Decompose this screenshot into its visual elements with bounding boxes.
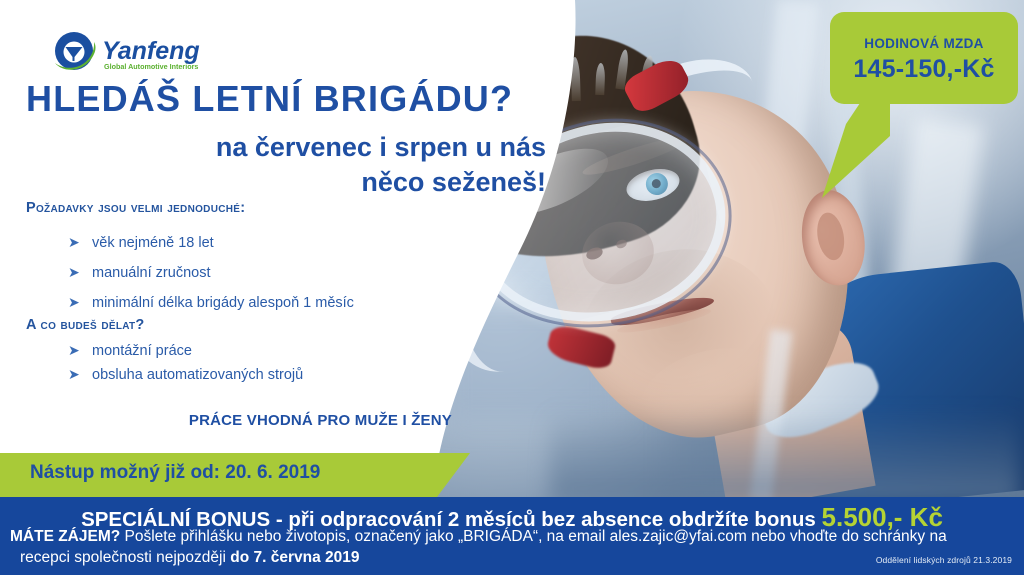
subheadline-line-2: něco seženeš! — [26, 165, 546, 200]
subheadline: na červenec i srpen u nás něco seženeš! — [26, 130, 546, 199]
arrow-bullet-icon: ➤ — [68, 294, 80, 312]
list-item-label: manuální zručnost — [92, 265, 210, 281]
deadline-prefix: recepci společnosti nejpozději — [20, 549, 226, 566]
footer-bar: SPECIÁLNÍ BONUS - při odpracování 2 měsí… — [0, 497, 1024, 575]
arrow-bullet-icon: ➤ — [68, 234, 80, 252]
arrow-bullet-icon: ➤ — [68, 342, 80, 360]
hourly-wage-value: 145-150,-Kč — [830, 55, 1018, 84]
yanfeng-logo: Yanfeng Global Automotive Interiors — [52, 30, 232, 76]
start-date-band: Nástup možný již od: 20. 6. 2019 — [0, 453, 470, 497]
subheadline-line-1: na červenec i srpen u nás — [26, 130, 546, 165]
hourly-wage-label: HODINOVÁ MZDA — [830, 36, 1018, 51]
suitability-note: PRÁCE VHODNÁ PRO MUŽE I ŽENY — [0, 412, 452, 429]
list-item: ➤ obsluha automatizovaných strojů — [68, 366, 303, 384]
contact-instructions: Pošlete přihlášku nebo životopis, označe… — [125, 528, 947, 545]
start-date-text: Nástup možný již od: 20. 6. 2019 — [30, 462, 320, 484]
arrow-bullet-icon: ➤ — [68, 366, 80, 384]
work-title: A co budeš dělat? — [26, 317, 145, 333]
foreground-blur — [550, 410, 1020, 497]
hr-credit: Oddělení lidských zdrojů 21.3.2019 — [876, 555, 1012, 565]
contact-question: MÁTE ZÁJEM? — [10, 528, 120, 545]
list-item: ➤ montážní práce — [68, 342, 303, 360]
recruitment-poster: Yanfeng Global Automotive Interiors HLED… — [0, 0, 1024, 575]
list-item: ➤ manuální zručnost — [68, 264, 354, 282]
list-item-label: montážní práce — [92, 343, 192, 359]
deadline-date: do 7. června 2019 — [230, 549, 359, 566]
arrow-bullet-icon: ➤ — [68, 264, 80, 282]
deadline-line: recepci společnosti nejpozději do 7. čer… — [20, 549, 360, 567]
hourly-wage-badge: HODINOVÁ MZDA 145-150,-Kč — [830, 12, 1018, 104]
requirements-list: ➤ věk nejméně 18 let ➤ manuální zručnost… — [68, 234, 354, 324]
list-item: ➤ minimální délka brigády alespoň 1 měsí… — [68, 294, 354, 312]
page-title: HLEDÁŠ LETNÍ BRIGÁDU? — [26, 80, 546, 118]
requirements-title: Požadavky jsou velmi jednoduché: — [26, 200, 245, 216]
svg-text:Global Automotive Interiors: Global Automotive Interiors — [104, 62, 198, 71]
svg-text:Yanfeng: Yanfeng — [102, 37, 200, 65]
contact-line: MÁTE ZÁJEM? Pošlete přihlášku nebo život… — [10, 528, 1018, 546]
list-item-label: věk nejméně 18 let — [92, 235, 214, 251]
work-list: ➤ montážní práce ➤ obsluha automatizovan… — [68, 342, 303, 390]
list-item-label: obsluha automatizovaných strojů — [92, 367, 303, 383]
list-item-label: minimální délka brigády alespoň 1 měsíc — [92, 295, 354, 311]
list-item: ➤ věk nejméně 18 let — [68, 234, 354, 252]
